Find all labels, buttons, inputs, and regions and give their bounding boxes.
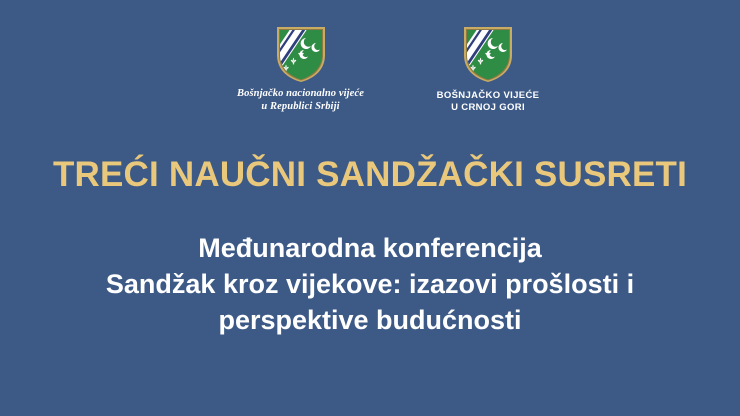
organization-bv-crna-gora: BOŠNJAČKO VIJEĆE U CRNOJ GORI: [402, 26, 574, 113]
caption-line-2: u Republici Srbiji: [208, 101, 393, 114]
poster-headline: TREĆI NAUČNI SANDŽAČKI SUSRETI: [0, 157, 740, 192]
caption-line-1: BOŠNJAČKO VIJEĆE: [402, 90, 574, 102]
caption-line-2: U CRNOJ GORI: [402, 102, 574, 114]
caption-line-1: Bošnjačko nacionalno vijeće: [208, 88, 393, 101]
organization-caption-right: BOŠNJAČKO VIJEĆE U CRNOJ GORI: [402, 90, 574, 113]
bosniak-coat-of-arms-shield-icon: [275, 26, 327, 82]
poster-subtitle: Međunarodna konferencija Sandžak kroz vi…: [0, 231, 740, 339]
emblem-right-wrap: [402, 26, 574, 82]
subtitle-line-1: Međunarodna konferencija: [0, 231, 740, 267]
organization-caption-left: Bošnjačko nacionalno vijeće u Republici …: [208, 88, 393, 114]
subtitle-line-3: perspektive budućnosti: [0, 303, 740, 339]
organization-bnv-srbija: Bošnjačko nacionalno vijeće u Republici …: [208, 26, 393, 114]
bosniak-coat-of-arms-shield-icon: [462, 26, 514, 82]
subtitle-line-2: Sandžak kroz vijekove: izazovi prošlosti…: [0, 267, 740, 303]
organizations-row: Bošnjačko nacionalno vijeće u Republici …: [0, 26, 740, 130]
emblem-left-wrap: [208, 26, 393, 82]
conference-poster: Bošnjačko nacionalno vijeće u Republici …: [0, 0, 740, 416]
